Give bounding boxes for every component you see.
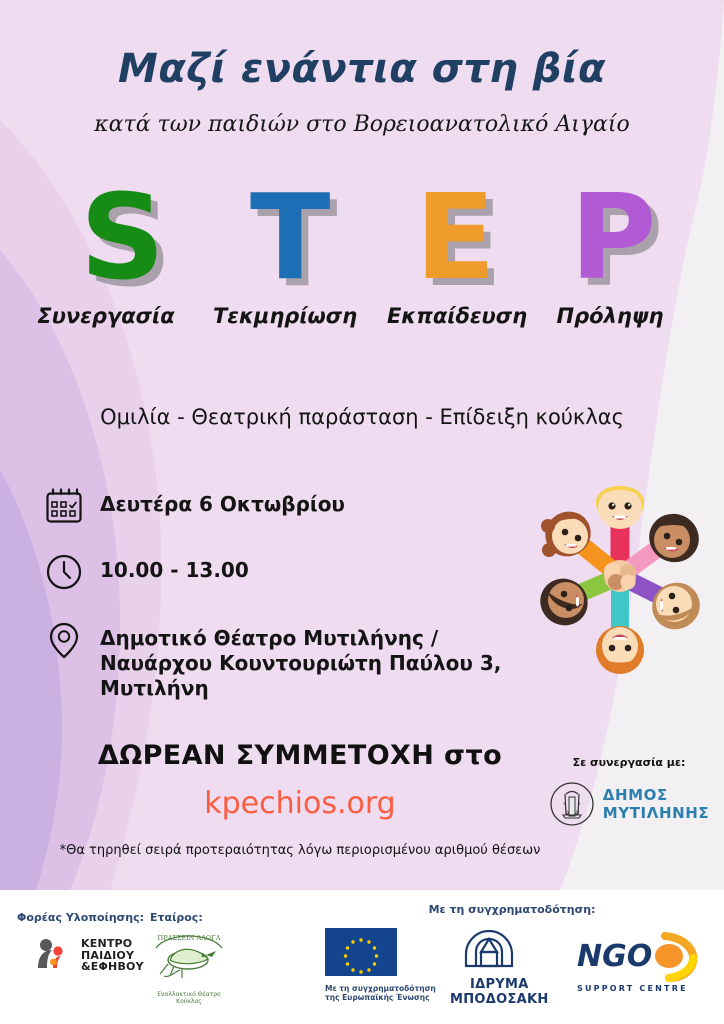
place-line-2: Ναυάρχου Κουντουριώτη Παύλου 3, [100, 651, 501, 675]
lyre-seal-icon: Y I Λ H [549, 781, 595, 827]
kpe-line-3: &ΕΦΗΒΟΥ [81, 960, 144, 973]
partner-sub-2: Κούκλας [176, 998, 202, 1005]
step-letter-s: S [80, 178, 165, 296]
step-letter-t: T [250, 178, 331, 296]
bodossaki-logo: ΙΔΡΥΜΑ ΜΠΟΔΟΣΑΚΗ [450, 928, 549, 1007]
step-label-tekmiriosi: Τεκμηρίωση [213, 304, 357, 328]
ngo-main-text: NGO [577, 939, 652, 974]
children-circle-illustration [524, 468, 716, 684]
eu-caption-line-1: Με τη συγχρηματοδότηση [325, 984, 436, 993]
detail-row-date: Δευτέρα 6 Οκτωβρίου [44, 486, 345, 526]
eu-flag-icon [325, 928, 397, 976]
eu-funding-logo: Με τη συγχρηματοδότηση της Ευρωπαϊκής Έν… [325, 928, 436, 1002]
svg-text:Λ: Λ [565, 809, 569, 814]
poster-root: Μαζί ενάντια στη βία κατά των παιδιών στ… [0, 0, 724, 1024]
partner-org-caption: Εταίρος: [150, 911, 203, 924]
bodossaki-mark-icon [450, 928, 528, 970]
step-letter-p: P [570, 178, 656, 296]
eu-caption: Με τη συγχρηματοδότηση της Ευρωπαϊκής Έν… [325, 984, 436, 1002]
kentro-paidiou-logo: ΚΕΝΤΡΟ ΠΑΙΔΙΟΥ &ΕΦΗΒΟΥ [34, 938, 144, 973]
implementer-caption: Φορέας Υλοποίησης: [17, 911, 144, 924]
event-time: 10.00 - 13.00 [100, 552, 249, 583]
svg-text:Y: Y [562, 801, 566, 806]
page-subtitle: κατά των παιδιών στο Βορειοανατολικό Αιγ… [0, 112, 724, 137]
municipality-name: ΔΗΜΟΣ ΜΥΤΙΛΗΝΗΣ [603, 786, 710, 822]
ngo-mark-icon: NGO [573, 930, 699, 982]
ngo-support-centre-logo: NGO SUPPORT CENTRE [573, 930, 699, 993]
step-label-synergasia: Συνεργασία [37, 304, 174, 328]
municipality-partner-block: Σε συνεργασία με: Y I Λ H ΔΗΜΟΣ ΜΥΤΙΛΗΝΗ… [541, 756, 717, 827]
page-title: Μαζί ενάντια στη βία [0, 46, 724, 92]
child-lower-left [531, 569, 597, 634]
programme-line: Ομιλία - Θεατρική παράσταση - Επίδειξη κ… [0, 405, 724, 429]
child-top [596, 486, 644, 529]
step-letter-e: E [415, 178, 496, 296]
place-line-3: Μυτιλήνη [100, 676, 209, 700]
bodossaki-line-2: ΜΠΟΔΟΣΑΚΗ [450, 992, 549, 1007]
partner-sub-1: Εναλλακτικό Θέατρο [157, 991, 220, 998]
event-date: Δευτέρα 6 Οκτωβρίου [100, 486, 345, 517]
theatre-bird-icon: ΠΡΑΣΣΕΙΝ ΑΛΟΓΑ [150, 930, 228, 986]
place-line-1: Δημοτικό Θέατρο Μυτιλήνης / [100, 626, 438, 650]
partner-caption: Σε συνεργασία με: [541, 756, 717, 769]
website-link[interactable]: kpechios.org [0, 786, 600, 821]
municipality-line-1: ΔΗΜΟΣ [603, 786, 668, 804]
ngo-subtext: SUPPORT CENTRE [577, 984, 699, 993]
footnote-text: *Θα τηρηθεί σειρά προτεραιότητας λόγω πε… [0, 843, 600, 858]
svg-text:H: H [576, 809, 580, 814]
step-label-ekpaidefsi: Εκπαίδευση [387, 304, 527, 328]
detail-row-time: 10.00 - 13.00 [44, 552, 249, 592]
funding-caption: Με τη συγχρηματοδότηση: [300, 903, 724, 916]
kpe-text: ΚΕΝΤΡΟ ΠΑΙΔΙΟΥ &ΕΦΗΒΟΥ [81, 938, 144, 973]
partner-logo-subtext: Εναλλακτικό Θέατρο Κούκλας [150, 991, 228, 1005]
calendar-icon [44, 486, 84, 526]
free-participation-text: ΔΩΡΕΑΝ ΣΥΜΜΕΤΟΧΗ στο [0, 740, 600, 771]
child-bottom [596, 626, 644, 674]
detail-row-place: Δημοτικό Θέατρο Μυτιλήνης / Ναυάρχου Κου… [44, 620, 501, 701]
step-label-prolipsi: Πρόληψη [557, 304, 664, 328]
eu-caption-line-2: της Ευρωπαϊκής Ένωσης [325, 993, 430, 1002]
footer-bar: Φορέας Υλοποίησης: Εταίρος: Με τη συγχρη… [0, 890, 724, 1024]
prassein-aloga-logo: ΠΡΑΣΣΕΙΝ ΑΛΟΓΑ Εναλλακτικό Θέατρο Κούκλα… [150, 930, 228, 1005]
bodossaki-line-1: ΙΔΡΥΜΑ [470, 977, 529, 992]
clock-icon [44, 552, 84, 592]
municipality-line-2: ΜΥΤΙΛΗΝΗΣ [603, 804, 710, 822]
step-acronym: S T E P Συνεργασία Τεκμηρίωση Εκπαίδευση… [0, 178, 724, 298]
partner-logo-arc-text: ΠΡΑΣΣΕΙΝ ΑΛΟΓΑ [158, 934, 221, 942]
kpe-figure-icon [34, 938, 76, 972]
bodossaki-text: ΙΔΡΥΜΑ ΜΠΟΔΟΣΑΚΗ [450, 977, 549, 1007]
location-pin-icon [44, 620, 84, 660]
svg-text:I: I [579, 801, 581, 806]
event-place: Δημοτικό Θέατρο Μυτιλήνης / Ναυάρχου Κου… [100, 620, 501, 701]
